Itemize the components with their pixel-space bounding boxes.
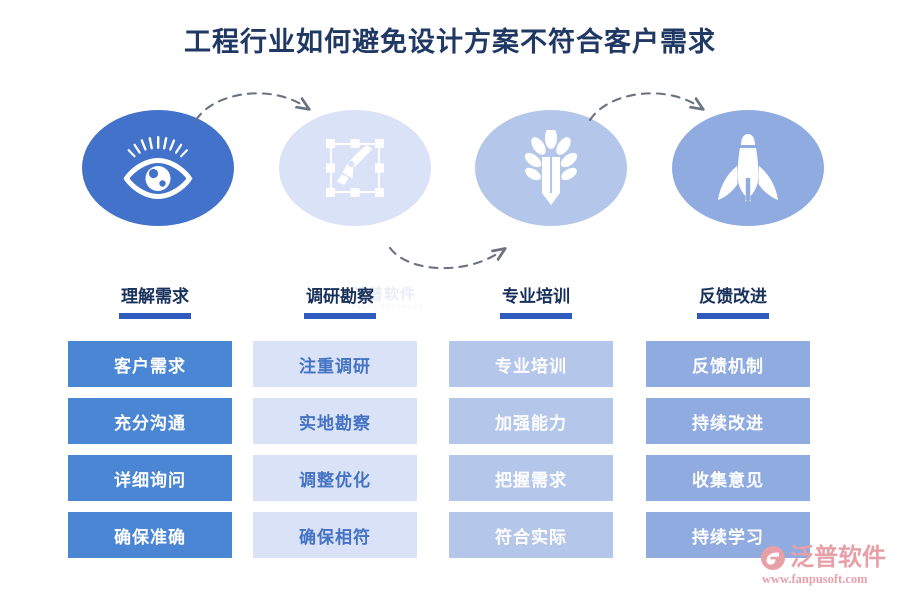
arrow-step3-to-step4 <box>590 93 698 120</box>
item-box-feedback-improvement-1[interactable]: 反馈机制 <box>646 341 810 387</box>
item-box-understand-requirements-3[interactable]: 详细询问 <box>68 455 232 501</box>
column-header-survey-investigation: 调研勘察 <box>246 282 434 319</box>
item-box-professional-training-4[interactable]: 符合实际 <box>449 512 613 558</box>
item-box-feedback-improvement-3[interactable]: 收集意见 <box>646 455 810 501</box>
item-box-professional-training-2[interactable]: 加强能力 <box>449 398 613 444</box>
item-box-understand-requirements-1[interactable]: 客户需求 <box>68 341 232 387</box>
infographic-canvas: 工程行业如何避免设计方案不符合客户需求 <box>0 0 900 600</box>
item-box-professional-training-3[interactable]: 把握需求 <box>449 455 613 501</box>
brand-logo: 泛普软件 www.fanpusoft.com <box>760 545 886 587</box>
column-header-underline <box>119 313 191 319</box>
pen-tool-icon <box>320 133 390 203</box>
arrow-step2-to-step3 <box>390 248 500 268</box>
column-header-understand-requirements: 理解需求 <box>61 282 249 319</box>
step-icon-circle-professional-training <box>475 110 627 226</box>
item-box-feedback-improvement-2[interactable]: 持续改进 <box>646 398 810 444</box>
column-header-underline <box>304 313 376 319</box>
column-header-label: 理解需求 <box>61 282 249 307</box>
column-header-label: 专业培训 <box>442 282 630 307</box>
item-box-survey-investigation-4[interactable]: 确保相符 <box>253 512 417 558</box>
page-title: 工程行业如何避免设计方案不符合客户需求 <box>0 20 900 59</box>
column-header-underline <box>697 313 769 319</box>
swirl-circle-logo-icon <box>760 545 786 571</box>
item-box-understand-requirements-4[interactable]: 确保准确 <box>68 512 232 558</box>
step-icon-circle-survey-investigation <box>279 110 431 226</box>
column-header-professional-training: 专业培训 <box>442 282 630 319</box>
rocket-icon <box>711 132 785 204</box>
arrow-step1-to-step2 <box>196 93 304 120</box>
item-box-survey-investigation-1[interactable]: 注重调研 <box>253 341 417 387</box>
eye-icon <box>121 136 195 200</box>
logo-name: 泛普软件 <box>790 546 886 570</box>
logo-url: www.fanpusoft.com <box>762 572 868 587</box>
column-header-feedback-improvement: 反馈改进 <box>639 282 827 319</box>
column-header-label: 调研勘察 <box>246 282 434 307</box>
item-box-survey-investigation-2[interactable]: 实地勘察 <box>253 398 417 444</box>
column-header-underline <box>500 313 572 319</box>
item-box-understand-requirements-2[interactable]: 充分沟通 <box>68 398 232 444</box>
item-box-survey-investigation-3[interactable]: 调整优化 <box>253 455 417 501</box>
step-icon-circle-feedback-improvement <box>672 110 824 226</box>
item-box-professional-training-1[interactable]: 专业培训 <box>449 341 613 387</box>
column-header-label: 反馈改进 <box>639 282 827 307</box>
pencil-leaves-icon <box>520 130 582 206</box>
step-icon-circle-understand-requirements <box>82 110 234 226</box>
